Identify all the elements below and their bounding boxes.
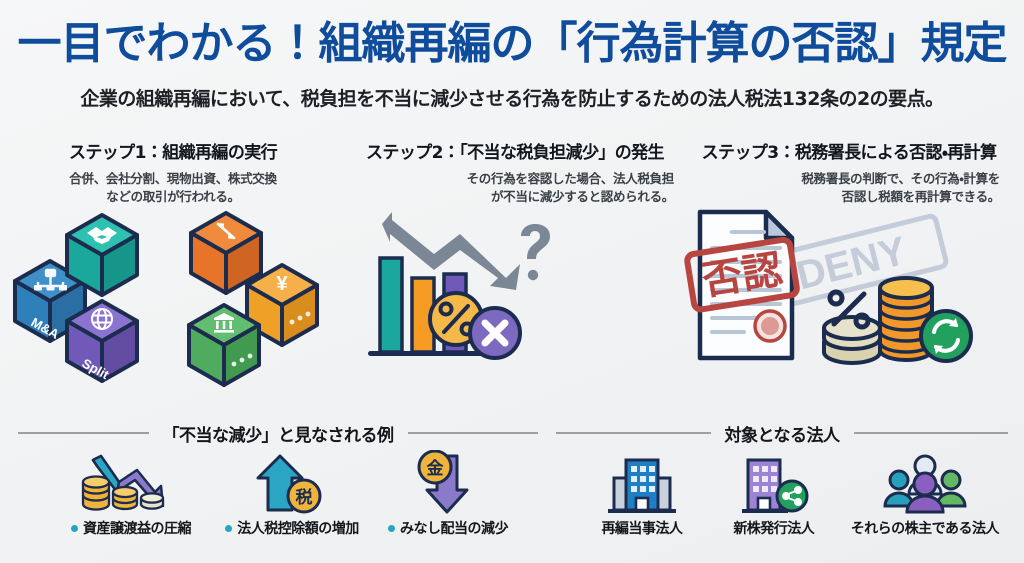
list-item: 税 法人税控除額の増加 xyxy=(214,452,370,538)
bar-1 xyxy=(380,258,402,352)
bullet-dot-icon xyxy=(388,525,395,532)
recalculate-icon xyxy=(921,311,971,361)
steps-section: ステップ1：組織再編の実行 合併、会社分割、現物出資、株式交換 などの取引が行わ… xyxy=(0,138,1024,418)
step-1-heading: ステップ1：組織再編の実行 xyxy=(8,138,338,163)
bullet-dot-icon xyxy=(71,525,78,532)
list-item-label-wrap: 資産譲渡益の圧縮 xyxy=(71,518,191,538)
section-heading-left: 「不当な減少」と見なされる例 xyxy=(18,420,538,446)
list-item-label: 資産譲渡益の圧縮 xyxy=(83,518,191,538)
unfair-reduction-examples-section: 「不当な減少」と見なされる例 xyxy=(18,420,538,538)
cube-split: Split xyxy=(67,301,137,383)
bullet-dot-icon xyxy=(225,525,232,532)
list-item-label: それらの株主である法人 xyxy=(851,518,999,538)
svg-text:金: 金 xyxy=(427,458,444,479)
section-heading-left-label: 「不当な減少」と見なされる例 xyxy=(163,421,394,446)
list-item-label: 法人税控除額の増加 xyxy=(237,518,359,538)
infographic-canvas: 一目でわかる！組織再編の「行為計算の否認」規定 企業の組織再編において、税負担を… xyxy=(0,0,1024,563)
page-subtitle: 企業の組織再編において、税負担を不当に減少させる行為を防止するための法人税法13… xyxy=(0,88,1024,111)
office-building-icon xyxy=(604,452,680,514)
question-mark-icon xyxy=(521,224,550,280)
section-heading-right: 対象となる法人 xyxy=(556,420,1008,446)
page-title: 一目でわかる！組織再編の「行為計算の否認」規定 xyxy=(0,22,1024,66)
up-arrow-tax-coin-icon: 税 xyxy=(246,452,338,514)
corporations-list: 再編当事法人 xyxy=(556,452,1008,538)
yen-icon: ¥ xyxy=(276,273,288,295)
cube-handshake xyxy=(67,215,137,295)
target-corporations-section: 対象となる法人 xyxy=(556,420,1008,538)
list-item-label: みなし配当の減少 xyxy=(400,518,508,538)
list-item: 金 みなし配当の減少 xyxy=(378,452,518,538)
step-2-description: その行為を容認した場合、法人税負担 が不当に減少すると認められる。 xyxy=(348,170,678,206)
step-1-description: 合併、会社分割、現物出資、株式交換 などの取引が行われる。 xyxy=(8,170,338,206)
tax-coin-icon: 税 xyxy=(288,480,320,512)
shareholders-group-icon xyxy=(879,452,971,514)
step-1: ステップ1：組織再編の実行 合併、会社分割、現物出資、株式交換 などの取引が行わ… xyxy=(8,138,338,206)
cubes-svg: M&A xyxy=(8,206,338,406)
building-share-icon xyxy=(736,452,812,514)
coins-down-arrow-icon xyxy=(75,452,187,514)
cube-bank xyxy=(189,305,259,385)
red-seal-icon xyxy=(755,311,785,341)
declining-chart-illustration xyxy=(348,206,678,406)
windows xyxy=(631,466,655,492)
chart-baseline xyxy=(368,351,494,356)
examples-list: 資産譲渡益の圧縮 税 xyxy=(18,452,538,538)
list-item: 新株発行法人 xyxy=(710,452,838,538)
share-badge xyxy=(777,481,807,511)
heading-rule-right xyxy=(854,432,1009,434)
list-item-label: 再編当事法人 xyxy=(601,518,682,538)
list-item-label-wrap: みなし配当の減少 xyxy=(388,518,508,538)
denied-document-illustration: DENY xyxy=(684,206,1014,406)
list-item-label-wrap: 法人税控除額の増加 xyxy=(225,518,359,538)
cross-mark-icon xyxy=(470,308,520,358)
step-3: ステップ3：税務署長による否認・再計算 税務署長の判断で、その行為・計算を 否認… xyxy=(684,138,1014,206)
step-2: ステップ2：「不当な税負担減少」の発生 その行為を容認した場合、法人税負担 が不… xyxy=(348,138,678,206)
list-item: 再編当事法人 xyxy=(578,452,706,538)
step-3-heading: ステップ3：税務署長による否認・再計算 xyxy=(684,138,1014,163)
svg-text:税: 税 xyxy=(296,487,313,508)
isometric-cubes-illustration: M&A xyxy=(8,206,338,406)
denied-document-svg: DENY xyxy=(684,206,1014,406)
step-2-heading: ステップ2：「不当な税負担減少」の発生 xyxy=(352,138,678,163)
list-item-label: 新株発行法人 xyxy=(733,518,814,538)
section-heading-right-label: 対象となる法人 xyxy=(725,421,840,446)
list-item: 資産譲渡益の圧縮 xyxy=(56,452,206,538)
heading-rule-right xyxy=(408,432,539,434)
list-item: それらの株主である法人 xyxy=(842,452,1008,538)
step-3-description: 税務署長の判断で、その行為・計算を 否認し税額を再計算できる。 xyxy=(684,170,1014,206)
heading-rule-left xyxy=(556,432,711,434)
windows xyxy=(753,466,777,492)
gold-coin-icon: 金 xyxy=(419,451,451,483)
declining-chart-svg xyxy=(348,206,678,406)
gold-coin-down-arrow-icon: 金 xyxy=(405,452,491,514)
bottom-sections: 「不当な減少」と見なされる例 xyxy=(0,420,1024,563)
heading-rule-left xyxy=(18,432,149,434)
